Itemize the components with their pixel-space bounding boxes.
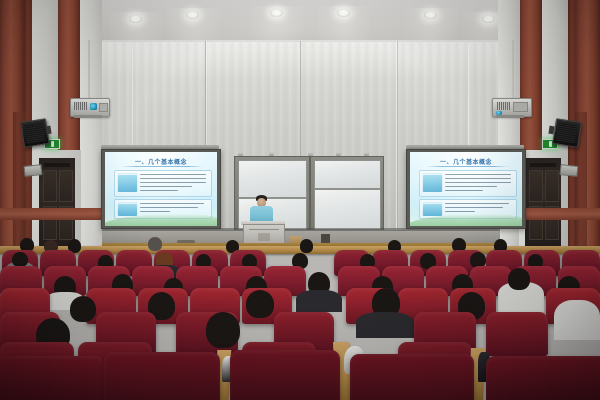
foreground-seat[interactable] [0,356,104,400]
screen-glare [410,152,522,226]
stage-edge-shadow [102,228,500,231]
door-panel [529,170,543,202]
door-panel [59,170,73,202]
slide-surface: 一、几个基本概念 [410,152,522,226]
whiteboard-right [310,156,384,232]
left-wall-speaker [20,118,50,148]
audience-head [246,290,274,318]
door-header [530,163,556,167]
recessed-downlight [337,9,350,17]
foreground-seat[interactable] [104,352,220,400]
whiteboard-panel [314,160,381,189]
exit-running-man-icon [51,141,54,147]
seat[interactable] [486,312,548,356]
foreground-seat[interactable] [486,356,600,400]
door-panel [545,170,559,202]
door-panel [43,170,57,202]
audience-shoulders [296,290,342,312]
audience-head [148,237,162,251]
audience-head [70,296,96,322]
audience-head [12,252,28,267]
recessed-downlight [482,15,495,23]
door-header [44,163,70,167]
wood-wainscot [0,208,102,220]
speaker-bracket [45,126,51,135]
right-projector-pole [512,40,514,98]
podium-panel [258,233,270,241]
recessed-downlight [129,15,142,23]
audience-head [508,268,530,290]
slide-surface: 一、几个基本概念 [105,152,217,226]
exit-running-man-icon [549,141,552,147]
projector-mount [496,115,524,118]
whiteboard-panel [314,189,381,230]
left-wall-device [23,164,42,177]
recessed-downlight [424,11,437,19]
audience-head [300,239,313,253]
projector-mount [74,115,102,118]
projector-lens-icon [90,103,97,110]
right-wall-device [559,164,578,177]
recessed-downlight [186,11,199,19]
lecture-hall-photo: 一、几个基本概念 一、几个基本概念 [0,0,600,400]
audience-shoulders [554,300,600,340]
audience-shoulders [356,312,414,338]
right-wall-speaker [552,118,582,148]
foreground-seat[interactable] [350,354,474,400]
left-projector-pole [88,40,90,98]
recessed-downlight [270,9,283,17]
left-projection-screen[interactable]: 一、几个基本概念 [101,149,221,229]
foreground-seat[interactable] [230,350,340,400]
audience-head [206,312,240,348]
whiteboard-panel [238,160,307,198]
screen-glare [105,152,217,226]
right-projection-screen[interactable]: 一、几个基本概念 [406,149,526,229]
